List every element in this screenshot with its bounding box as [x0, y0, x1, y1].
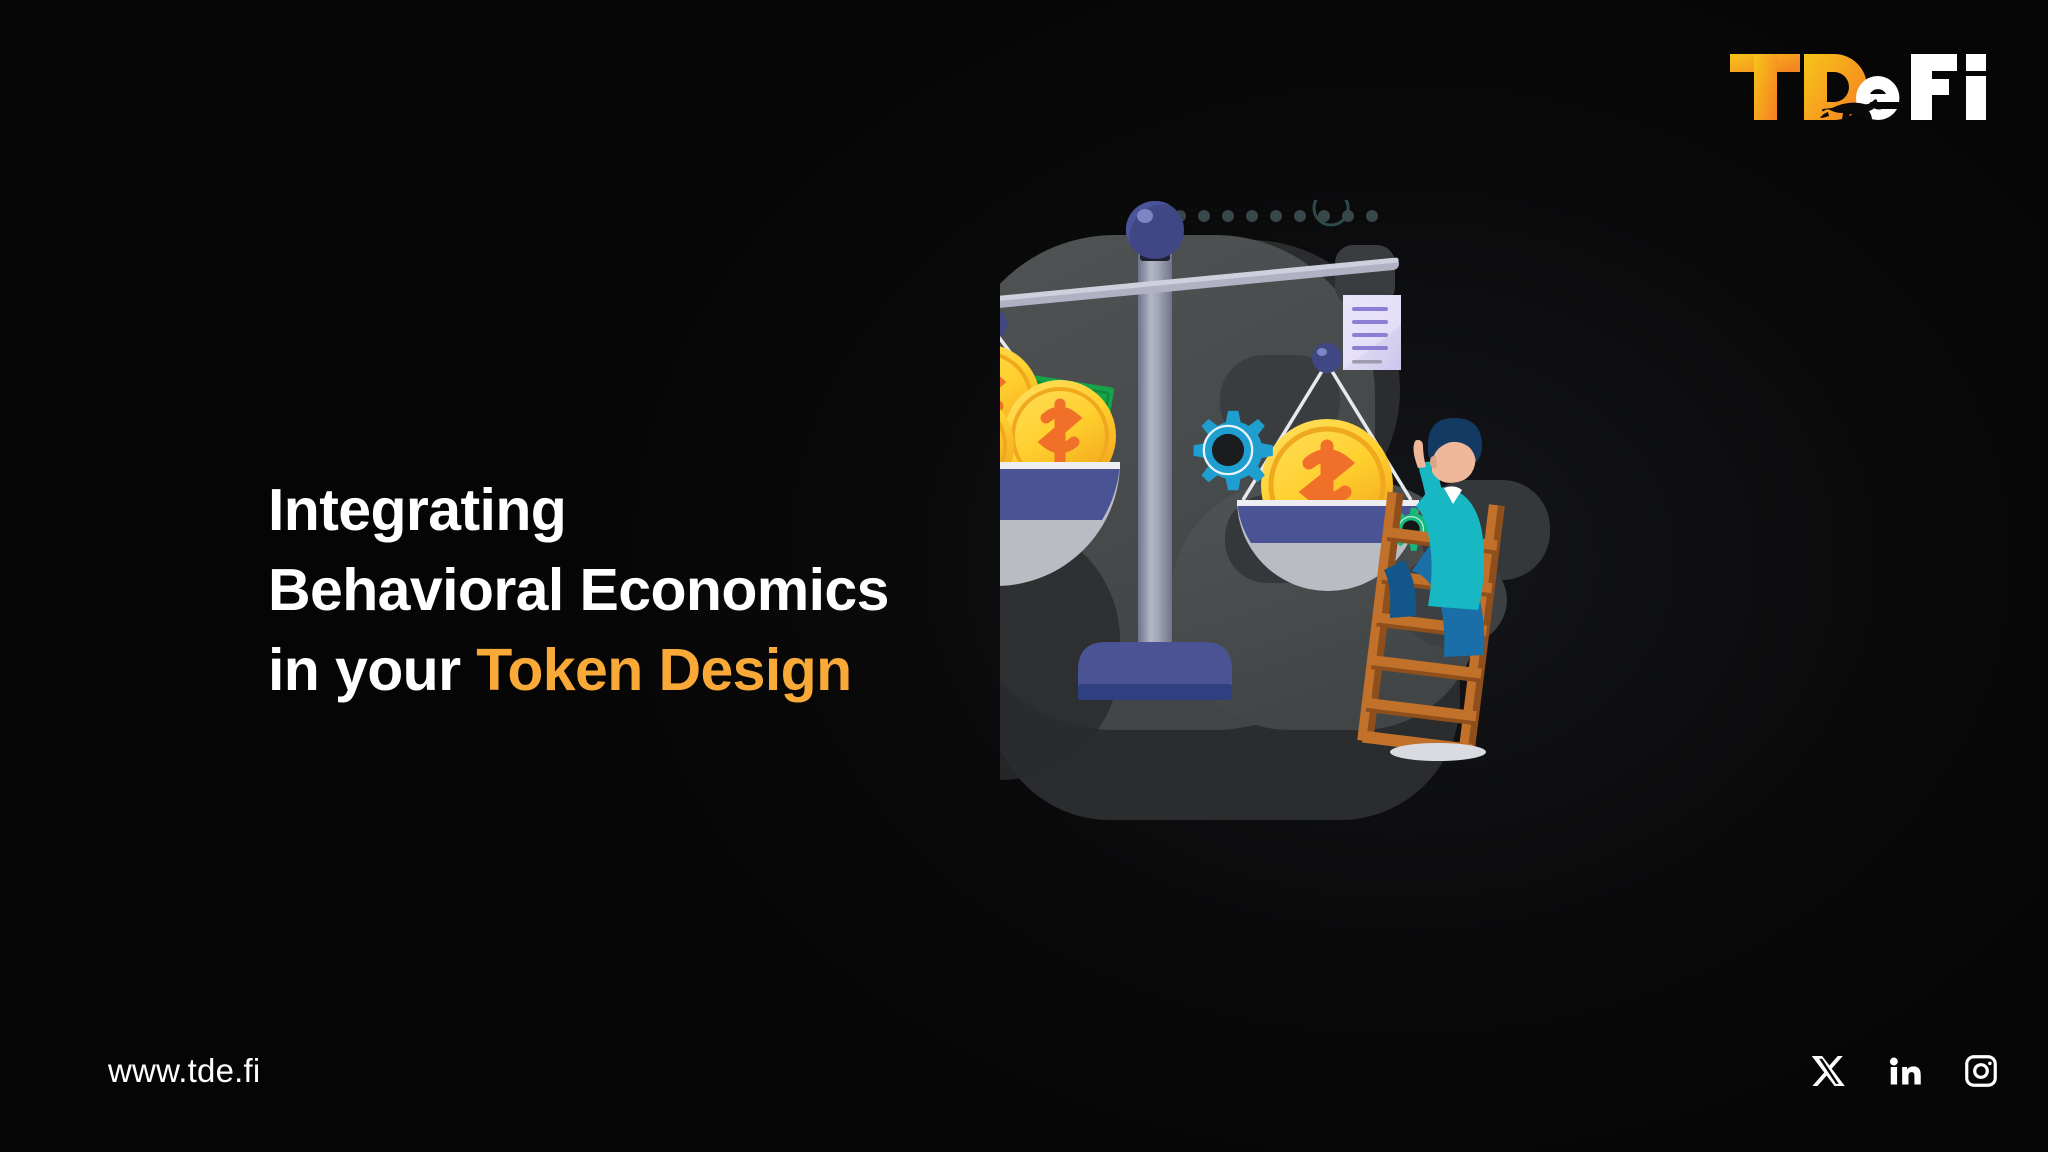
ring-outline-large — [1314, 200, 1348, 225]
tdefi-logo[interactable] — [1728, 48, 2000, 126]
website-url[interactable]: www.tde.fi — [108, 1052, 260, 1090]
x-twitter-icon[interactable] — [1810, 1052, 1848, 1090]
balance-scale-illustration — [1000, 200, 2010, 940]
right-pan-knob — [1312, 343, 1342, 373]
headline: Integrating Behavioral Economics in your… — [268, 470, 1048, 710]
social-links — [1810, 1052, 2000, 1090]
headline-line-2: Behavioral Economics — [268, 550, 1048, 630]
logo-letter-T — [1730, 54, 1800, 120]
logo-letter-i — [1966, 54, 1986, 120]
headline-line-3-accent: Token Design — [476, 637, 851, 703]
linkedin-icon[interactable] — [1886, 1052, 1924, 1090]
gear-blue-icon — [1194, 411, 1273, 490]
document-icon — [1343, 295, 1401, 370]
banner-root: Integrating Behavioral Economics in your… — [0, 0, 2048, 1152]
person-hand — [1414, 440, 1427, 468]
headline-line-3-plain: in your — [268, 637, 476, 703]
headline-line-3: in your Token Design — [268, 630, 1048, 710]
instagram-icon[interactable] — [1962, 1052, 2000, 1090]
dot-row — [1174, 210, 1378, 222]
headline-line-1: Integrating — [268, 470, 1048, 550]
logo-letter-F — [1911, 54, 1957, 120]
